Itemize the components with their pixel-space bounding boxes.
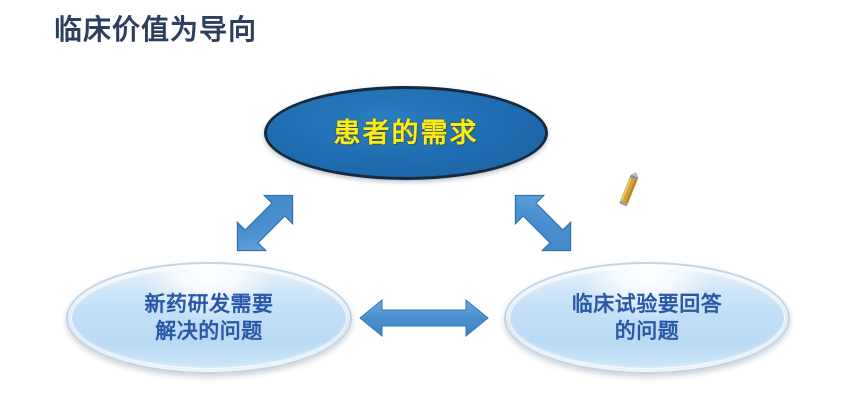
node-clinical-trial[interactable]: 临床试验要回答 的问题 (504, 262, 790, 374)
node-drug-development[interactable]: 新药研发需要 解决的问题 (66, 262, 352, 374)
double-arrow-diagonal-left-icon[interactable] (222, 180, 308, 266)
node-drug-development-label-line2: 解决的问题 (155, 320, 263, 343)
node-patient-needs-label: 患者的需求 (334, 118, 479, 149)
page-title: 临床价值为导向 (54, 13, 257, 47)
node-drug-development-label-line1: 新药研发需要 (145, 293, 274, 316)
node-drug-development-label: 新药研发需要 解决的问题 (145, 291, 274, 345)
node-clinical-trial-label-line1: 临床试验要回答 (572, 293, 723, 316)
node-clinical-trial-label: 临床试验要回答 的问题 (572, 291, 723, 345)
double-arrow-horizontal-icon[interactable] (358, 298, 490, 338)
node-patient-needs[interactable]: 患者的需求 (264, 86, 548, 180)
slide-canvas: 临床价值为导向 患者的需求 新药研发需要 解决的问题 临床试验要回答 的问题 (0, 0, 841, 415)
node-clinical-trial-label-line2: 的问题 (615, 320, 680, 343)
double-arrow-diagonal-right-icon[interactable] (500, 180, 586, 266)
pencil-icon (616, 171, 642, 209)
